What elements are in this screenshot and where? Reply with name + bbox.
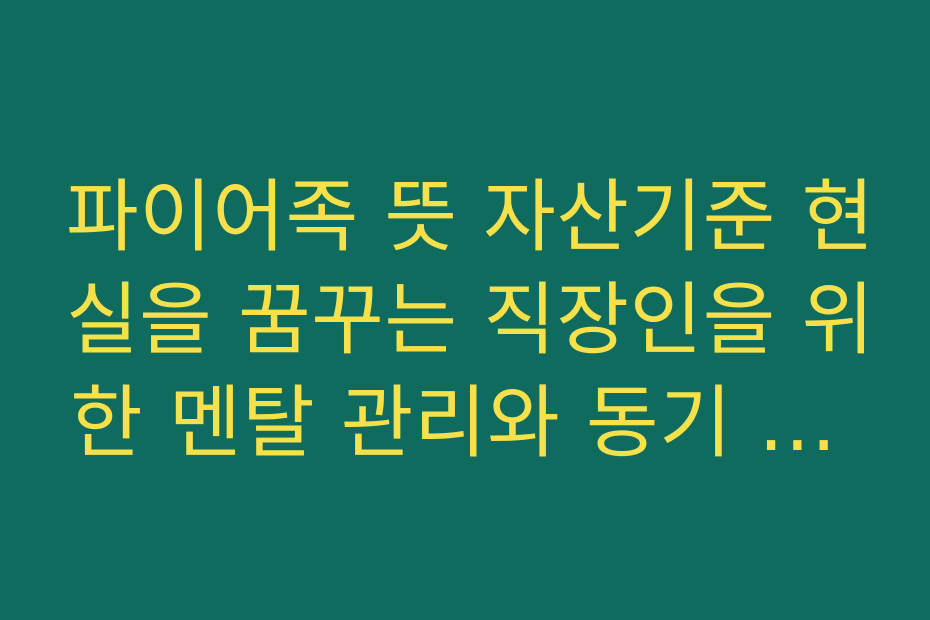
title-line-2: 실을 꿈꾸는 직장인을 위 (66, 269, 880, 372)
title-line-1: 파이어족 뜻 자산기준 현 (66, 166, 880, 269)
title-line-3: 한 멘탈 관리와 동기 … (70, 372, 880, 475)
text-card: 파이어족 뜻 자산기준 현 실을 꿈꾸는 직장인을 위 한 멘탈 관리와 동기 … (0, 0, 930, 620)
page-title: 파이어족 뜻 자산기준 현 실을 꿈꾸는 직장인을 위 한 멘탈 관리와 동기 … (62, 166, 880, 475)
